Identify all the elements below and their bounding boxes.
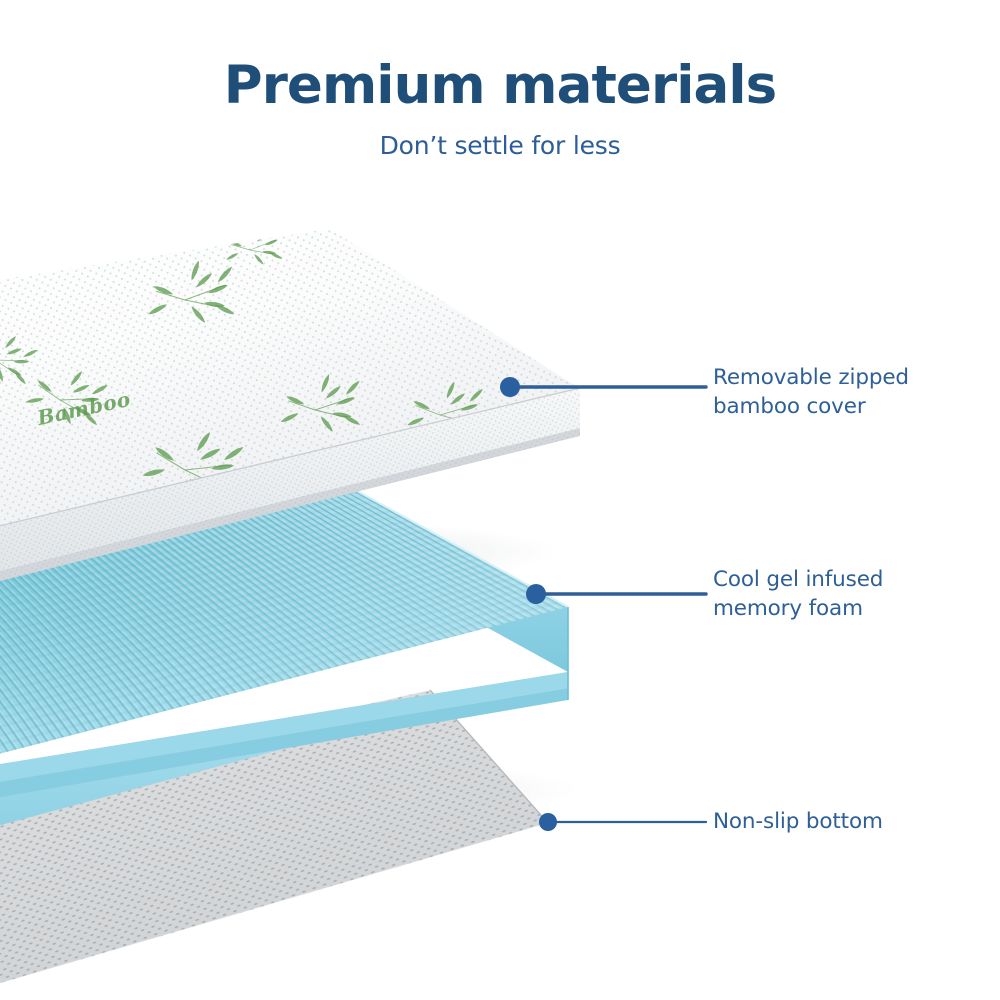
foam-scallop: [252, 687, 258, 709]
foam-scallop: [229, 693, 235, 715]
page-subtitle: Don’t settle for less: [0, 114, 1000, 160]
foam-scallop: [299, 675, 305, 698]
foam-scallop: [206, 699, 212, 720]
foam-scallop: [404, 648, 410, 672]
foam-scallop: [194, 702, 200, 723]
foam-scallop: [474, 629, 480, 654]
foam-scallop: [311, 672, 317, 695]
foam-scallop: [217, 696, 223, 718]
foam-scallop: [77, 732, 83, 752]
foam-scallop: [264, 684, 270, 706]
page-title: Premium materials: [0, 0, 1000, 114]
foam-scallop: [393, 651, 399, 675]
foam-scallop: [54, 738, 60, 757]
foam-scallop: [147, 714, 153, 735]
foam-scallop: [369, 657, 375, 681]
foam-scallop: [182, 705, 188, 726]
foam-scallop: [112, 723, 118, 743]
header: Premium materials Don’t settle for less: [0, 0, 1000, 160]
foam-scallop: [323, 669, 329, 692]
foam-scallop: [124, 720, 130, 740]
foam-scallop: [334, 666, 340, 689]
foam-scallop: [358, 660, 364, 684]
foam-scallop: [463, 632, 469, 657]
foam-scallop: [100, 726, 106, 746]
infographic-canvas: Premium materials Don’t settle for less: [0, 0, 1000, 1000]
foam-scallop: [439, 639, 445, 664]
foam-scallop: [451, 636, 457, 661]
foam-scallop: [486, 626, 492, 652]
foam-scallop: [65, 735, 71, 754]
foam-scallop: [135, 717, 141, 737]
foam-scallop: [241, 690, 247, 712]
foam-scallop: [346, 663, 352, 687]
foam-scallop: [276, 681, 282, 704]
foam-scallop: [89, 729, 95, 749]
bamboo-wordmark: Bamboo: [483, 890, 582, 933]
foam-scallop: [381, 654, 387, 678]
foam-scallop: [428, 642, 434, 667]
foam-scallop: [287, 678, 293, 701]
foam-scallop: [171, 708, 177, 729]
foam-scallop: [416, 645, 422, 670]
foam-scallop: [159, 711, 165, 732]
